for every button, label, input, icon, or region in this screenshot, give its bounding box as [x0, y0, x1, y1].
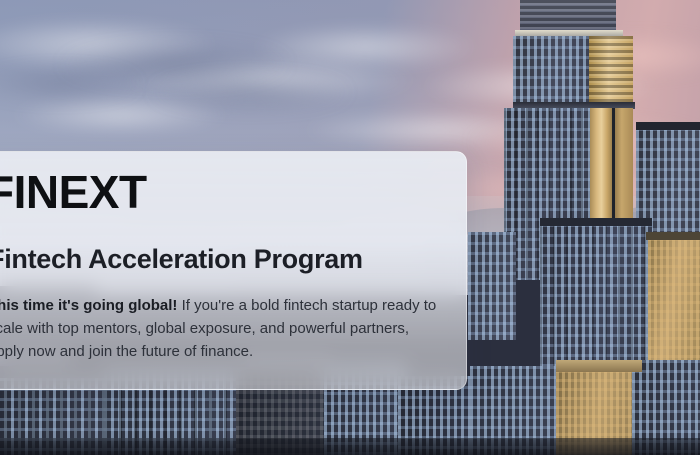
hero-description: This time it's going global! If you're a…: [0, 294, 438, 363]
gold-clad-building: [648, 238, 700, 378]
podium-roof: [556, 360, 642, 372]
program-subtitle: Fintech Acceleration Program: [0, 246, 363, 273]
brand-title: FINEXT: [0, 169, 147, 215]
secondary-tower-cap: [636, 122, 700, 130]
hero-glass-card: FINEXT Fintech Acceleration Program This…: [0, 151, 467, 390]
tower-gold-upper: [589, 36, 633, 104]
skyline-base-shadow: [0, 438, 700, 455]
glass-tower: [540, 224, 652, 374]
gold-clad-cap: [646, 232, 700, 240]
hero-card-content: FINEXT Fintech Acceleration Program This…: [0, 152, 467, 391]
glass-tower-cap: [540, 218, 652, 226]
tower-crown: [520, 0, 616, 34]
hero-description-lead: This time it's going global!: [0, 297, 177, 314]
hero-banner: FINEXT Fintech Acceleration Program This…: [0, 0, 700, 455]
midground-tower: [468, 232, 516, 340]
tower-upper-dark: [513, 36, 591, 104]
